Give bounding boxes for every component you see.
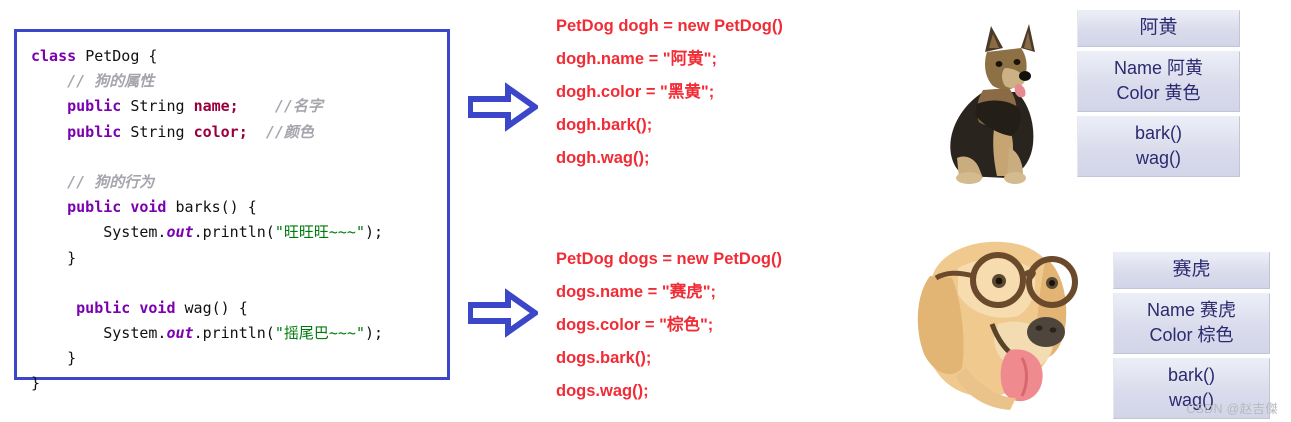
arrow-right-svg <box>468 288 538 338</box>
code-token <box>31 97 67 115</box>
dog-photo-golden-retriever <box>906 228 1084 414</box>
code-token: barks() { <box>176 198 257 216</box>
code-token: class <box>31 47 85 65</box>
object-field-color: Color 棕色 <box>1116 323 1267 348</box>
code-token <box>31 123 67 141</box>
code-listing: class PetDog { // 狗的属性 public String nam… <box>17 32 447 397</box>
instantiation-snippet-dogs: PetDog dogs = new PetDog()dogs.name = "赛… <box>556 243 782 408</box>
object-field-color: Color 黄色 <box>1080 81 1237 106</box>
code-statement: dogh.wag(); <box>556 142 783 175</box>
code-line: System.out.println("旺旺旺~~~"); <box>31 220 447 245</box>
code-token: String <box>130 97 193 115</box>
object-card-dogh: 阿黄 Name 阿黄 Color 黄色 bark() wag() <box>1077 10 1240 177</box>
code-statement: dogs.color = "棕色"; <box>556 309 782 342</box>
code-statement: PetDog dogh = new PetDog() <box>556 10 783 43</box>
object-method-wag: wag() <box>1080 146 1237 171</box>
object-field-name: Name 阿黄 <box>1080 56 1237 81</box>
code-token: System. <box>31 223 166 241</box>
code-token: public <box>67 123 130 141</box>
object-card-methods: bark() wag() <box>1077 116 1240 177</box>
code-line: public String color; //颜色 <box>31 120 447 145</box>
code-statement: dogs.name = "赛虎"; <box>556 276 782 309</box>
code-token <box>31 274 40 292</box>
arrow-right-icon-bottom <box>468 288 538 343</box>
code-token: PetDog { <box>85 47 157 65</box>
code-token: } <box>31 349 76 367</box>
csdn-watermark: CSDN @赵吉傑 <box>1186 398 1278 417</box>
arrow-shape <box>470 294 535 332</box>
code-line: public void barks() { <box>31 195 447 220</box>
code-token <box>31 148 40 166</box>
code-token <box>31 198 67 216</box>
code-token: //名字 <box>275 97 323 115</box>
code-line: // 狗的属性 <box>31 69 447 94</box>
code-token: System. <box>31 324 166 342</box>
code-line: System.out.println("摇尾巴~~~"); <box>31 321 447 346</box>
object-card-fields: Name 赛虎 Color 棕色 <box>1113 293 1270 354</box>
code-token: name; <box>194 97 239 115</box>
code-statement: PetDog dogs = new PetDog() <box>556 243 782 276</box>
code-token: // 狗的行为 <box>31 173 154 191</box>
dog-photo-german-shepherd <box>913 8 1075 188</box>
object-method-bark: bark() <box>1116 363 1267 388</box>
golden-retriever-illustration <box>906 228 1084 414</box>
code-token <box>248 123 266 141</box>
code-token: color; <box>194 123 248 141</box>
code-token: public <box>67 97 130 115</box>
code-token <box>239 97 275 115</box>
code-line <box>31 145 447 170</box>
code-token: } <box>31 249 76 267</box>
code-token: .println( <box>194 223 275 241</box>
code-token: "旺旺旺~~~" <box>275 223 365 241</box>
object-method-bark: bark() <box>1080 121 1237 146</box>
object-field-name: Name 赛虎 <box>1116 298 1267 323</box>
arrow-right-icon-top <box>468 82 538 137</box>
code-statement: dogs.wag(); <box>556 375 782 408</box>
code-line: } <box>31 246 447 271</box>
code-line: public void wag() { <box>31 296 447 321</box>
code-token: // 狗的属性 <box>31 72 154 90</box>
code-token: "摇尾巴~~~" <box>275 324 365 342</box>
code-token: } <box>31 374 40 392</box>
instantiation-snippet-dogh: PetDog dogh = new PetDog()dogh.name = "阿… <box>556 10 783 175</box>
code-statement: dogh.bark(); <box>556 109 783 142</box>
code-line: } <box>31 371 447 396</box>
code-token: //颜色 <box>266 123 314 141</box>
code-token: ); <box>365 324 383 342</box>
object-card-dogs: 赛虎 Name 赛虎 Color 棕色 bark() wag() <box>1113 252 1270 419</box>
code-line: // 狗的行为 <box>31 170 447 195</box>
arrow-shape <box>470 88 535 126</box>
arrow-right-svg <box>468 82 538 132</box>
code-token: wag() { <box>185 299 248 317</box>
object-card-title: 赛虎 <box>1113 252 1270 289</box>
code-line <box>31 271 447 296</box>
code-token: out <box>166 223 193 241</box>
java-code-panel: class PetDog { // 狗的属性 public String nam… <box>14 29 450 380</box>
code-line: class PetDog { <box>31 44 447 69</box>
code-token: ); <box>365 223 383 241</box>
object-card-title: 阿黄 <box>1077 10 1240 47</box>
code-statement: dogh.name = "阿黄"; <box>556 43 783 76</box>
code-line: } <box>31 346 447 371</box>
german-shepherd-illustration <box>913 8 1075 188</box>
code-token: .println( <box>194 324 275 342</box>
code-token: public void <box>76 299 184 317</box>
code-statement: dogh.color = "黑黄"; <box>556 76 783 109</box>
code-token <box>31 299 76 317</box>
code-token: public void <box>67 198 175 216</box>
code-statement: dogs.bark(); <box>556 342 782 375</box>
code-token: out <box>166 324 193 342</box>
object-card-fields: Name 阿黄 Color 黄色 <box>1077 51 1240 112</box>
code-line: public String name; //名字 <box>31 94 447 119</box>
code-token: String <box>130 123 193 141</box>
